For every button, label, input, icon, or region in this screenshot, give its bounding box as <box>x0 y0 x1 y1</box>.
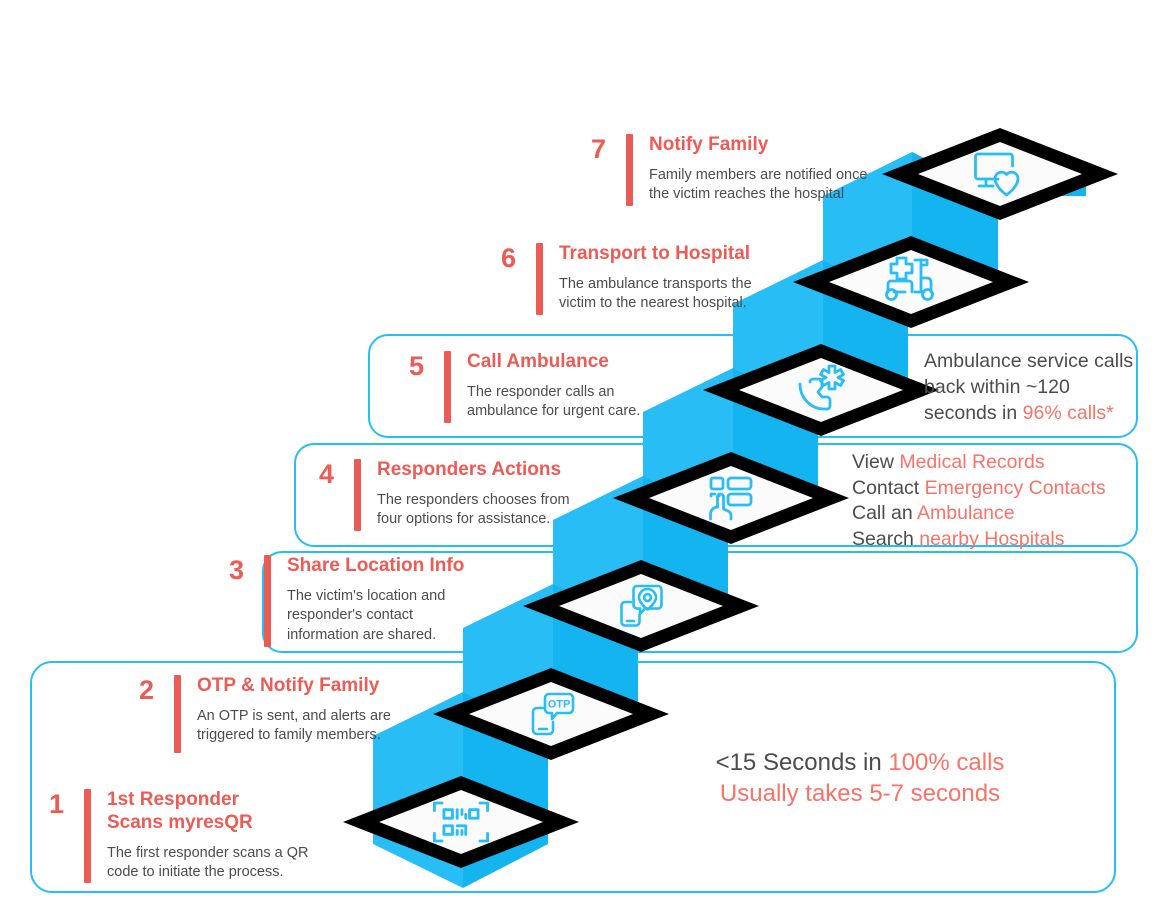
step-description-1: The first responder scans a QR code to i… <box>107 844 330 883</box>
step-title-3: Share Location Info <box>287 555 480 578</box>
step-accent-bar-4 <box>354 459 361 531</box>
step-number-6: 6 <box>482 243 516 272</box>
responder-option-row: Contact Emergency Contacts <box>852 476 1132 502</box>
responder-option-label: Call an <box>852 502 913 524</box>
step-description-6: The ambulance transports the victim to t… <box>559 275 782 314</box>
step-block-6: 6 Transport to Hospital The ambulance tr… <box>482 243 782 315</box>
note-timing-highlight: 100% calls <box>888 749 1004 776</box>
step-accent-bar-1 <box>84 789 91 883</box>
responder-option-label: Contact <box>852 477 919 499</box>
responder-option-row: Call an Ambulance <box>852 501 1132 527</box>
responder-option-label: Search <box>852 528 914 550</box>
step-title-6: Transport to Hospital <box>559 243 782 266</box>
step-description-5: The responder calls an ambulance for urg… <box>467 383 650 422</box>
note-timing-prefix: <15 Seconds in <box>716 749 889 776</box>
step-number-3: 3 <box>210 555 244 584</box>
responder-option-row: View Medical Records <box>852 450 1132 476</box>
step-number-7: 7 <box>572 134 606 163</box>
note-ambulance-callback: Ambulance service calls back within ~120… <box>924 348 1134 426</box>
note-timing-line-2: Usually takes 5-7 seconds <box>640 779 1080 810</box>
step-title-4: Responders Actions <box>377 459 590 482</box>
step-number-1: 1 <box>30 789 64 818</box>
step-block-3: 3 Share Location Info The victim's locat… <box>210 555 480 647</box>
step-description-2: An OTP is sent, and alerts are triggered… <box>197 707 410 746</box>
step-block-7: 7 Notify Family Family members are notif… <box>572 134 902 206</box>
responder-option-row: Search nearby Hospitals <box>852 527 1132 553</box>
ambulance-icon <box>887 258 933 300</box>
step-title-1: 1st Responder Scans myresQR <box>107 789 330 835</box>
step-accent-bar-5 <box>444 351 451 423</box>
step-icon-plate-6 <box>793 236 1029 328</box>
step-block-1: 1 1st Responder Scans myresQR The first … <box>30 789 330 883</box>
step-title-5: Call Ambulance <box>467 351 650 374</box>
step-title-7: Notify Family <box>649 134 902 157</box>
note-ambulance-highlight: 96% calls* <box>1023 402 1114 424</box>
step-description-4: The responders chooses from four options… <box>377 491 590 530</box>
step-icon-plate-7 <box>882 128 1118 220</box>
step-number-4: 4 <box>300 459 334 488</box>
responder-option-value: Medical Records <box>899 451 1044 473</box>
responder-option-value: nearby Hospitals <box>919 528 1064 550</box>
step-accent-bar-7 <box>626 134 633 206</box>
step-block-2: 2 OTP & Notify Family An OTP is sent, an… <box>120 675 410 753</box>
step-title-2: OTP & Notify Family <box>197 675 410 698</box>
monitor-heart-icon <box>976 154 1019 195</box>
note-timing-line-1: <15 Seconds in 100% calls <box>640 748 1080 779</box>
responder-option-value: Ambulance <box>917 502 1015 524</box>
infographic-canvas: OTP <box>0 0 1176 917</box>
step-block-5: 5 Call Ambulance The responder calls an … <box>390 351 650 423</box>
step-accent-bar-2 <box>174 675 181 753</box>
stair-riser-7 <box>912 152 1086 218</box>
responder-option-value: Emergency Contacts <box>925 477 1106 499</box>
step-accent-bar-3 <box>264 555 271 647</box>
step-description-3: The victim's location and responder's co… <box>287 587 480 646</box>
responder-option-label: View <box>852 451 894 473</box>
step-accent-bar-6 <box>536 243 543 315</box>
step-block-4: 4 Responders Actions The responders choo… <box>300 459 590 531</box>
step-number-2: 2 <box>120 675 154 704</box>
note-responder-options: View Medical Records Contact Emergency C… <box>852 450 1132 553</box>
step-number-5: 5 <box>390 351 424 380</box>
note-timing: <15 Seconds in 100% calls Usually takes … <box>640 748 1080 809</box>
step-description-7: Family members are notified once the vic… <box>649 166 902 205</box>
